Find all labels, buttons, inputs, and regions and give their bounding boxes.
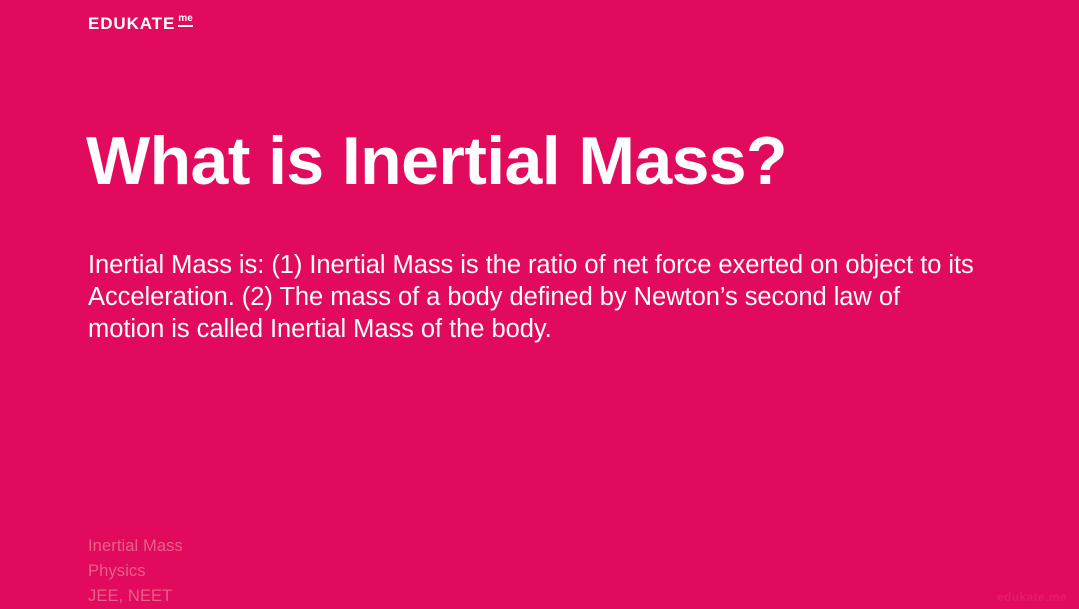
- tag-list: Inertial Mass Physics JEE, NEET: [88, 534, 183, 609]
- slide-body-text: Inertial Mass is: (1) Inertial Mass is t…: [88, 249, 974, 345]
- list-item[interactable]: Inertial Mass: [88, 534, 183, 559]
- slide-canvas: EDUKATE me What is Inertial Mass? Inerti…: [0, 0, 1079, 607]
- brand-suffix: me: [178, 14, 193, 27]
- list-item[interactable]: Physics: [88, 559, 183, 584]
- watermark: edukate.me: [997, 590, 1067, 604]
- brand-name: EDUKATE: [88, 15, 175, 32]
- list-item[interactable]: JEE, NEET: [88, 584, 183, 609]
- slide-title: What is Inertial Mass?: [86, 126, 986, 197]
- brand-logo[interactable]: EDUKATE me: [88, 15, 193, 32]
